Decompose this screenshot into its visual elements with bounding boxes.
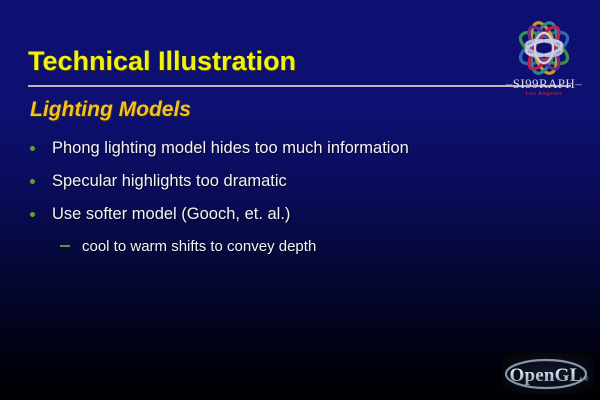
list-item-label: Specular highlights too dramatic xyxy=(52,171,287,191)
slide-subtitle: Lighting Models xyxy=(30,98,191,122)
green-dot-bullet-icon xyxy=(30,171,52,184)
green-dot-bullet-icon xyxy=(30,204,52,217)
siggraph-tick-right: – xyxy=(575,76,582,91)
opengl-logo-icon: OpenGL ® xyxy=(502,352,594,394)
svg-text:®: ® xyxy=(584,376,589,383)
list-item: Phong lighting model hides too much info… xyxy=(30,138,550,158)
green-dot-bullet-icon xyxy=(30,138,52,151)
list-item-sub-label: cool to warm shifts to convey depth xyxy=(82,237,316,257)
siggraph-tick-left: – xyxy=(506,76,513,91)
list-item-label: Use softer model (Gooch, et. al.) xyxy=(52,204,290,224)
page-title: Technical Illustration xyxy=(28,46,296,77)
list-item-sub: cool to warm shifts to convey depth xyxy=(60,237,550,257)
title-divider xyxy=(28,85,571,87)
siggraph-wordmark-text: SI99RAPH xyxy=(513,76,575,91)
green-dash-bullet-icon xyxy=(60,237,82,247)
siggraph-city-label: Los Angeles xyxy=(496,91,592,97)
siggraph-logo: –SI99RAPH– Los Angeles xyxy=(496,14,592,106)
list-item-label: Phong lighting model hides too much info… xyxy=(52,138,409,158)
siggraph-wordmark: –SI99RAPH– xyxy=(496,76,592,92)
bullet-list: Phong lighting model hides too much info… xyxy=(30,138,550,265)
opengl-logo: OpenGL ® xyxy=(502,352,594,394)
svg-text:OpenGL: OpenGL xyxy=(510,365,583,386)
list-item: Use softer model (Gooch, et. al.) xyxy=(30,204,550,224)
slide-canvas: Technical Illustration Lighting Models P… xyxy=(0,0,600,400)
list-item: Specular highlights too dramatic xyxy=(30,171,550,191)
